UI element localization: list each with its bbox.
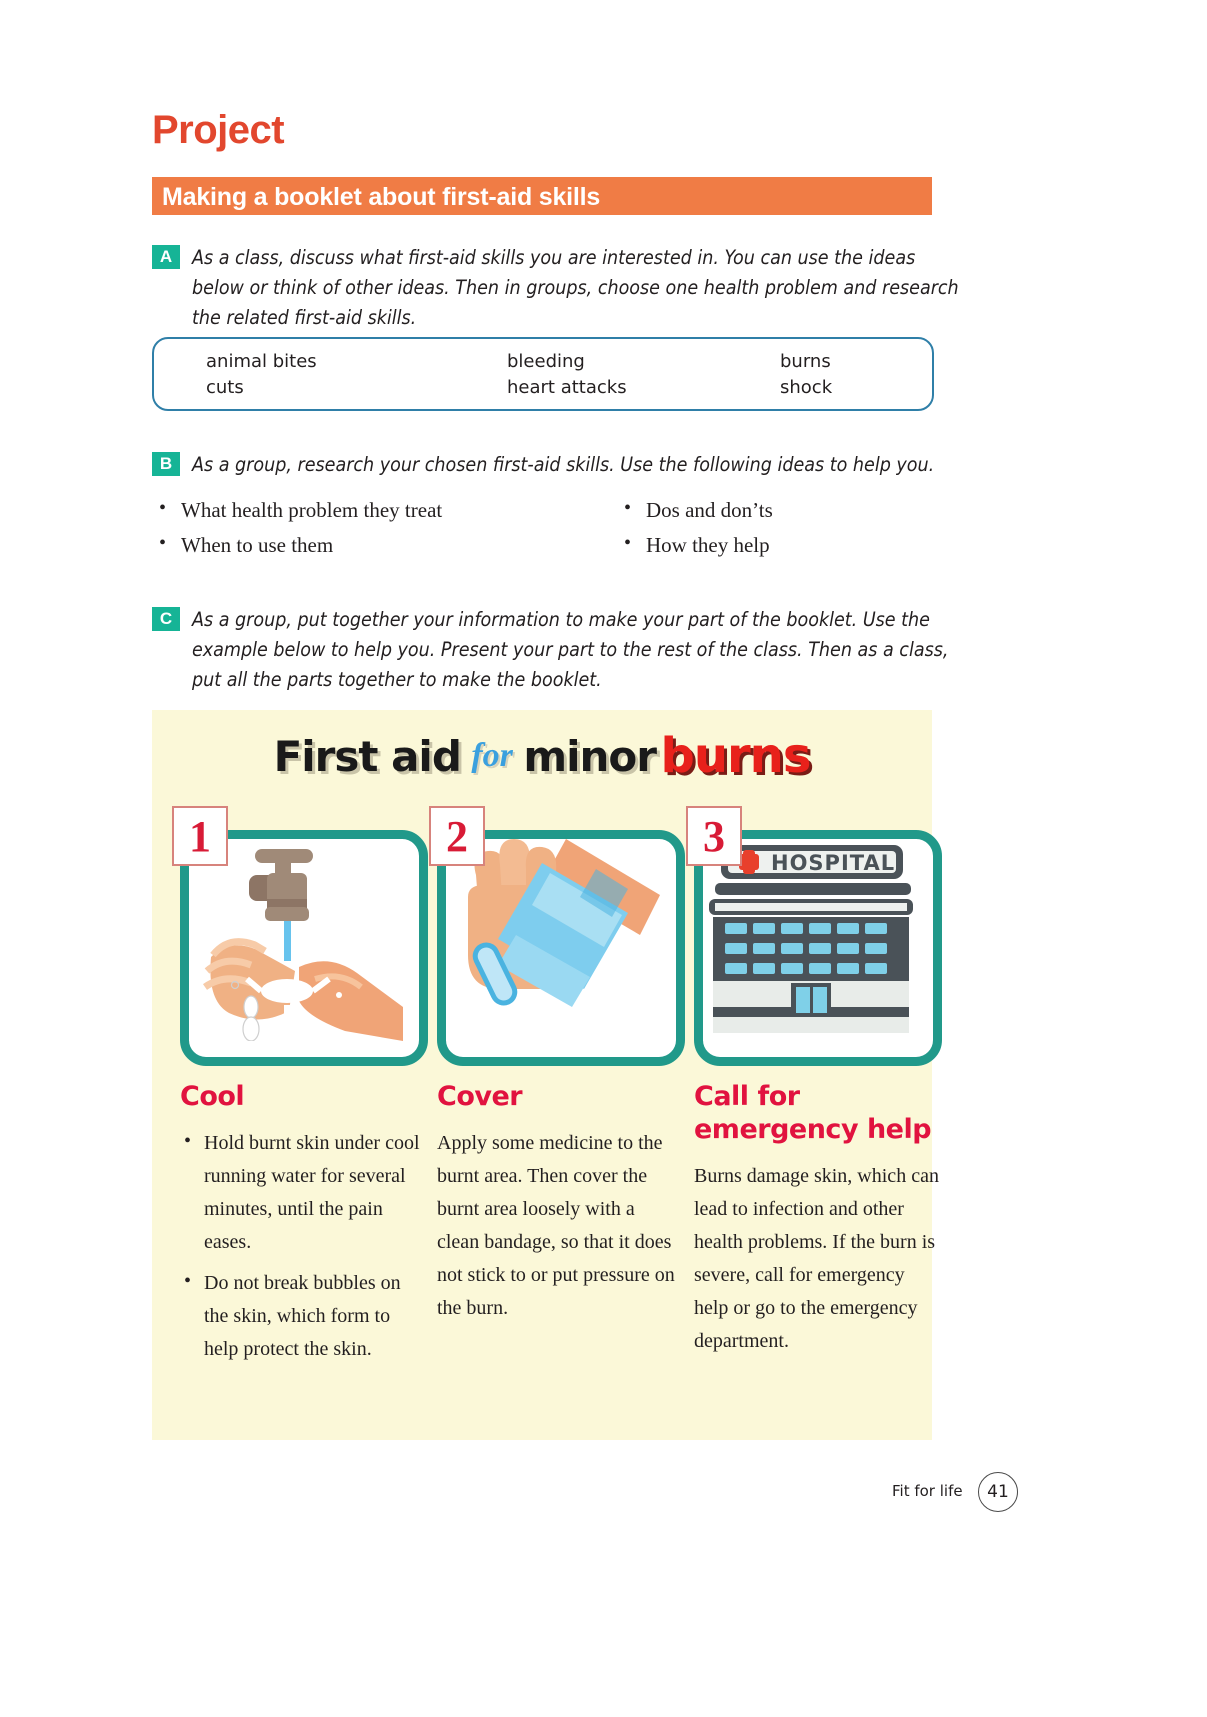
task-b-badge: B xyxy=(152,452,180,476)
task-a-badge: A xyxy=(152,245,180,269)
step-1-number-badge: 1 xyxy=(172,806,228,866)
list-item: What health problem they treat xyxy=(155,498,555,523)
word-box-column-3: burns shock xyxy=(780,349,832,401)
word-item: bleeding xyxy=(507,349,627,375)
step-3-body: Burns damage skin, which can lead to inf… xyxy=(694,1160,939,1358)
step-1-heading: Cool xyxy=(180,1080,420,1113)
word-item: cuts xyxy=(206,375,317,401)
poster-title: First aid for minor burns xyxy=(152,728,932,784)
list-item: How they help xyxy=(620,533,950,558)
word-item: shock xyxy=(780,375,832,401)
hand-under-tap-icon xyxy=(189,839,403,1041)
poster-title-first-aid: First aid xyxy=(274,732,461,781)
word-item: animal bites xyxy=(206,349,317,375)
poster-title-for: for xyxy=(471,737,513,775)
step-1-text-column: Cool Hold burnt skin under cool running … xyxy=(180,1080,420,1374)
first-aid-poster: First aid for minor burns xyxy=(152,710,932,1440)
word-item: heart attacks xyxy=(507,375,627,401)
task-c-badge: C xyxy=(152,607,180,631)
poster-title-minor: minor xyxy=(523,732,656,781)
step-3-heading: Call for emergency help xyxy=(694,1080,939,1146)
list-item: Hold burnt skin under cool running water… xyxy=(180,1127,420,1259)
page-title: Project xyxy=(152,108,284,153)
list-item: Dos and don’ts xyxy=(620,498,950,523)
list-item: When to use them xyxy=(155,533,555,558)
svg-text:HOSPITAL: HOSPITAL xyxy=(771,851,895,875)
step-2-heading: Cover xyxy=(437,1080,677,1113)
step-2-number-badge: 2 xyxy=(429,806,485,866)
section-banner-title: Making a booklet about first-aid skills xyxy=(162,183,600,212)
hospital-building-icon: HOSPITAL xyxy=(703,839,917,1041)
task-a-text: As a class, discuss what first-aid skill… xyxy=(192,243,972,333)
ideas-list-left: What health problem they treat When to u… xyxy=(155,498,555,568)
word-item: burns xyxy=(780,349,832,375)
step-3-number-badge: 3 xyxy=(686,806,742,866)
task-c-text: As a group, put together your informatio… xyxy=(192,605,972,695)
textbook-page: Project Making a booklet about first-aid… xyxy=(0,0,1207,1717)
task-b-text: As a group, research your chosen first-a… xyxy=(192,450,982,480)
step-2-body: Apply some medicine to the burnt area. T… xyxy=(437,1127,677,1325)
step-2-text-column: Cover Apply some medicine to the burnt a… xyxy=(437,1080,677,1325)
list-item: Do not break bubbles on the skin, which … xyxy=(180,1267,420,1366)
poster-title-burns: burns xyxy=(660,728,810,784)
page-number: 41 xyxy=(978,1472,1018,1512)
step-1-body: Hold burnt skin under cool running water… xyxy=(180,1127,420,1366)
section-banner: Making a booklet about first-aid skills xyxy=(152,177,932,215)
ideas-list-right: Dos and don’ts How they help xyxy=(620,498,950,568)
step-3-text-column: Call for emergency help Burns damage ski… xyxy=(694,1080,939,1358)
bandaged-hand-icon xyxy=(446,839,660,1041)
word-box-column-2: bleeding heart attacks xyxy=(507,349,627,401)
word-box: animal bites cuts bleeding heart attacks… xyxy=(152,337,934,411)
word-box-column-1: animal bites cuts xyxy=(206,349,317,401)
footer-unit-label: Fit for life xyxy=(892,1482,963,1500)
